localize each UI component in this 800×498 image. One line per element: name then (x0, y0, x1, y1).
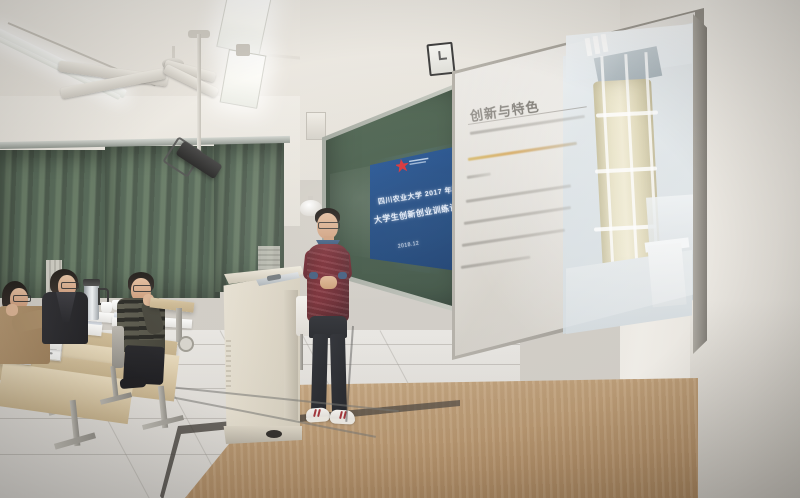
slide-photo-stool (647, 243, 686, 308)
lectern-cable-port (266, 430, 282, 438)
panelist-3-glasses-icon (133, 285, 152, 292)
lectern-vent (226, 340, 231, 388)
white-chair-leg-1 (300, 334, 303, 370)
panelist-3-chair (112, 326, 124, 368)
armrest-wheel (178, 336, 194, 352)
presenter-right-leg (330, 334, 347, 414)
panelist-1-glasses-icon (13, 295, 31, 302)
paper-cup-1 (101, 302, 112, 313)
presenter-glasses-icon (318, 222, 340, 229)
panelist-2-glasses-icon (61, 282, 79, 289)
presenter-left-cuff (309, 272, 318, 279)
thermos-cap (83, 279, 100, 286)
panel-light-bracket (236, 44, 250, 56)
presenter-clasped-hands (320, 276, 337, 289)
presenter-right-cuff (338, 272, 347, 279)
projection-screen-side-edge (693, 14, 707, 354)
wall-speaker (306, 112, 326, 140)
projector-pole (197, 34, 201, 166)
panelist-1-hand (6, 304, 18, 316)
wall-clock (426, 42, 455, 77)
classroom-presentation-photo: 四川农业大学 2017 年国家级（含重点） 大学生创新创业训练计划项目中期答辩 … (0, 0, 800, 498)
